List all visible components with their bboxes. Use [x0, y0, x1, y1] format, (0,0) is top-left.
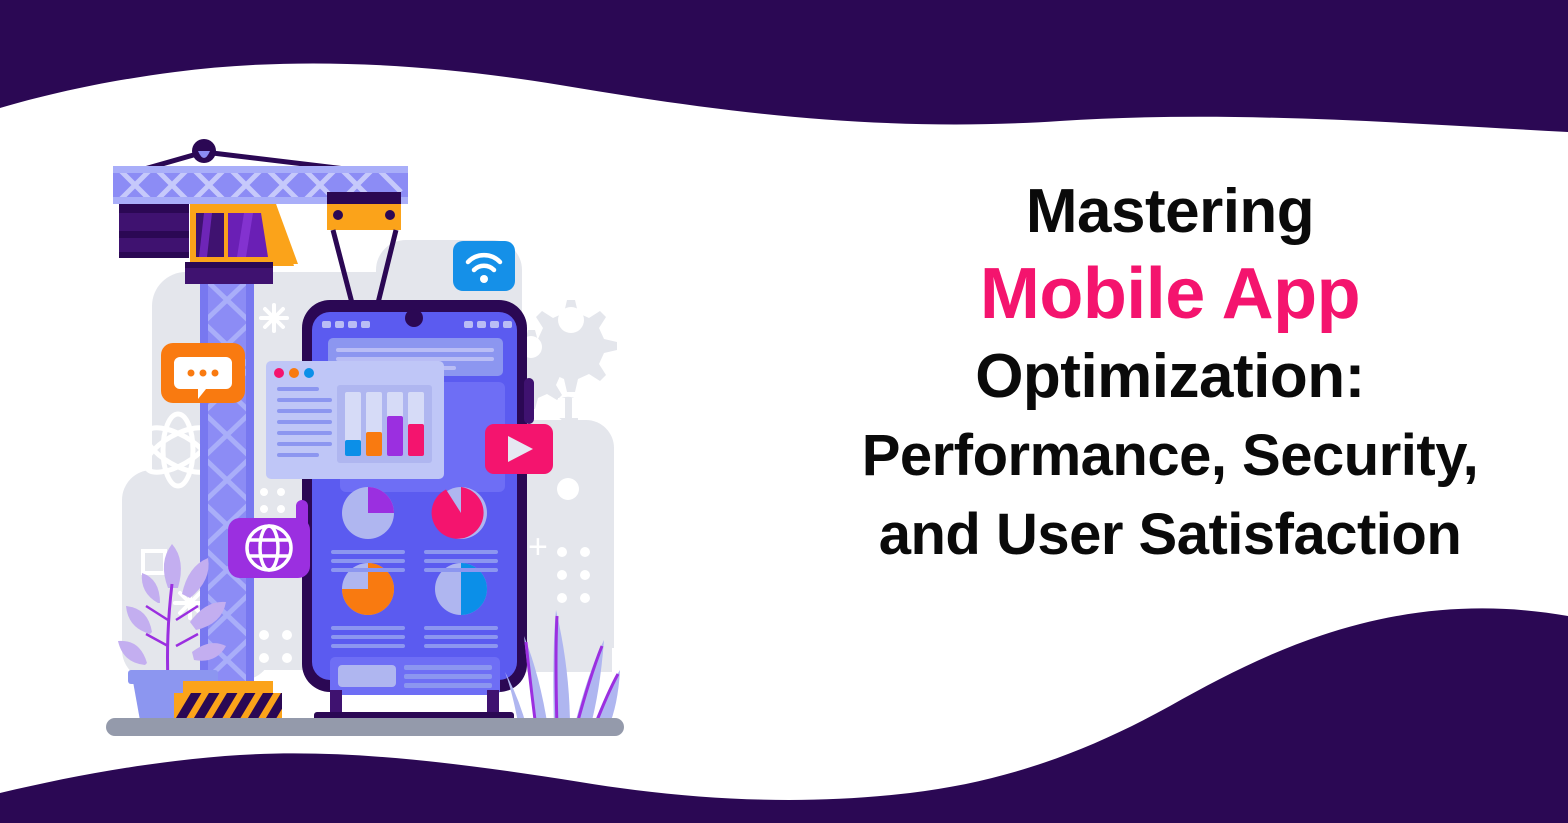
- phone-side-button-right: [524, 378, 534, 424]
- pie-chart-purple: [342, 487, 394, 539]
- pie-chart-pink: [432, 487, 487, 539]
- title-line-2-accent: Mobile App: [790, 251, 1550, 337]
- bar-value-2: [366, 432, 382, 456]
- title-line-4: Performance, Security,: [790, 416, 1550, 495]
- bar-value-3: [387, 416, 403, 456]
- chat-icon-badge[interactable]: [161, 343, 245, 403]
- bar-value-1: [345, 440, 361, 456]
- window-dot-close: [274, 368, 284, 378]
- title-line-1: Mastering: [790, 172, 1550, 251]
- plus-decoration: +: [528, 528, 548, 566]
- bar-chart: [337, 385, 432, 463]
- phone-camera: [405, 309, 423, 327]
- banner-root: +: [0, 0, 1568, 823]
- title-block: Mastering Mobile App Optimization: Perfo…: [790, 172, 1550, 574]
- title-line-5: and User Satisfaction: [790, 495, 1550, 574]
- play-icon-badge[interactable]: [485, 424, 553, 474]
- title-line-3: Optimization:: [790, 337, 1550, 416]
- crane-counterweight: [119, 204, 189, 258]
- wifi-icon-dot: [480, 275, 488, 283]
- wifi-icon-badge[interactable]: [453, 241, 515, 291]
- crane-mast: [200, 271, 254, 701]
- globe-icon-badge[interactable]: [228, 518, 310, 578]
- window-dot-minimize: [289, 368, 299, 378]
- document-window-card: [266, 361, 444, 479]
- window-dot-maximize: [304, 368, 314, 378]
- bar-value-4: [408, 424, 424, 456]
- ground-shadow: [106, 718, 624, 736]
